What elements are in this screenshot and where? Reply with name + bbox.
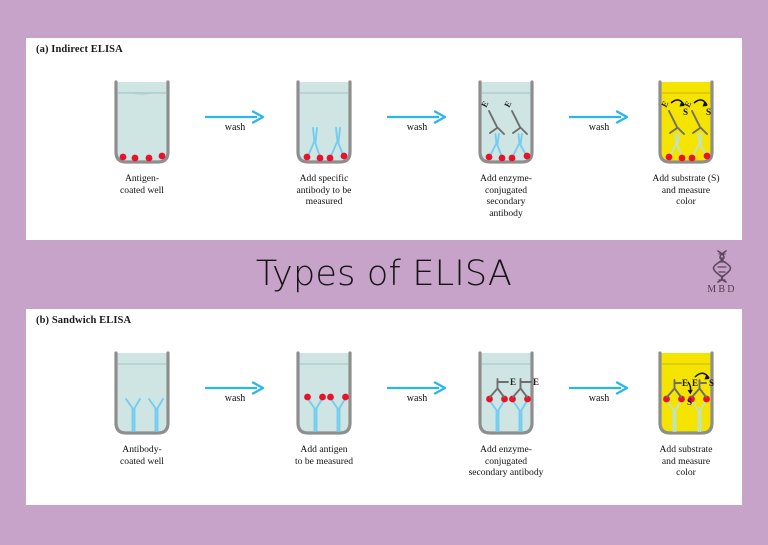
step-caption: Add substrate (S) and measure color xyxy=(626,173,746,208)
slide-title: Types of ELISA xyxy=(0,243,768,305)
enzyme-label: E xyxy=(692,378,698,388)
wash-arrow-1: wash xyxy=(198,381,272,404)
wash-arrow-2: wash xyxy=(380,110,454,133)
step-caption: Antibody- coated well xyxy=(82,444,202,467)
wash-label: wash xyxy=(380,393,454,404)
wash-arrow-2: wash xyxy=(380,381,454,404)
well-wall-icon xyxy=(660,353,712,433)
substrate-label: S xyxy=(709,378,714,388)
well-diagram xyxy=(264,349,384,441)
enzyme-label: E xyxy=(533,377,539,387)
step-add-substrate-measure-color: E S E S Add substrate and measure color xyxy=(626,349,746,479)
substrate-label: S xyxy=(687,397,692,407)
substrate-label: S xyxy=(683,107,688,117)
wash-arrow-3: wash xyxy=(562,381,636,404)
step-antigen-coated-well: Antigen- coated well xyxy=(82,78,202,196)
panel-indirect-elisa: (a) Indirect ELISA Antigen- coated well xyxy=(26,38,742,240)
panel-sandwich-elisa: (b) Sandwich ELISA Antibody- coat xyxy=(26,309,742,505)
wash-label: wash xyxy=(198,122,272,133)
step-caption: Add enzyme- conjugated secondary antibod… xyxy=(446,173,566,219)
wash-label: wash xyxy=(380,122,454,133)
step-caption: Add antigen to be measured xyxy=(264,444,384,467)
substrate-label: S xyxy=(706,107,711,117)
well-diagram: E S E S xyxy=(626,78,746,170)
slide-canvas: (a) Indirect ELISA Antigen- coated well xyxy=(0,0,768,545)
wash-label: wash xyxy=(562,122,636,133)
step-add-specific-antibody: Add specific antibody to be measured xyxy=(264,78,384,208)
well-diagram xyxy=(264,78,384,170)
page-title: Types of ELISA xyxy=(256,254,512,294)
well-diagram: E E xyxy=(446,78,566,170)
well-wall-icon xyxy=(116,353,168,433)
brand-logo: MBD xyxy=(699,249,745,301)
panel-b-label: (b) Sandwich ELISA xyxy=(36,315,131,326)
well-diagram xyxy=(82,78,202,170)
step-add-substrate-measure-color: E S E S xyxy=(626,78,746,208)
wash-arrow-3: wash xyxy=(562,110,636,133)
panel-a-label: (a) Indirect ELISA xyxy=(36,44,123,55)
enzyme-label: E xyxy=(682,378,688,388)
step-add-enzyme-conjugated-secondary-antibody: E E Add enzyme- conjugated secondary ant… xyxy=(446,349,566,479)
well-wall-icon xyxy=(298,353,350,433)
step-add-enzyme-conjugated-secondary-antibody: E E xyxy=(446,78,566,219)
step-caption: Add substrate and measure color xyxy=(626,444,746,479)
step-add-antigen: Add antigen to be measured xyxy=(264,349,384,467)
step-antibody-coated-well: Antibody- coated well xyxy=(82,349,202,467)
well-wall-icon xyxy=(298,82,350,162)
step-caption: Add specific antibody to be measured xyxy=(264,173,384,208)
step-caption: Antigen- coated well xyxy=(82,173,202,196)
dna-helix-icon xyxy=(713,249,731,283)
well-diagram: E S E S xyxy=(626,349,746,441)
enzyme-label: E xyxy=(510,377,516,387)
logo-label: MBD xyxy=(699,284,745,295)
wash-arrow-1: wash xyxy=(198,110,272,133)
step-caption: Add enzyme- conjugated secondary antibod… xyxy=(446,444,566,479)
wash-label: wash xyxy=(198,393,272,404)
wash-label: wash xyxy=(562,393,636,404)
well-diagram xyxy=(82,349,202,441)
well-diagram: E E xyxy=(446,349,566,441)
